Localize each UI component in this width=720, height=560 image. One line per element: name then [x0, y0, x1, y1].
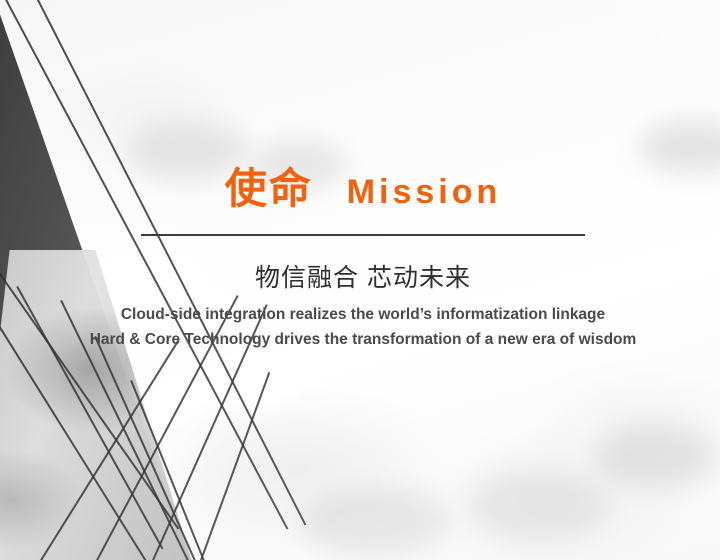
tagline-block: Cloud-side integration realizes the worl…: [60, 302, 666, 352]
tagline-line-2: Hard & Core Technology drives the transf…: [60, 327, 666, 352]
tagline-line-1: Cloud-side integration realizes the worl…: [60, 302, 666, 327]
page-title-english: Mission: [347, 175, 502, 209]
title-divider-rule: [141, 234, 585, 236]
page-title-chinese: 使命: [225, 168, 313, 210]
subtitle-chinese: 物信融合 芯动未来: [141, 258, 585, 294]
banner-content: 使命 Mission 物信融合 芯动未来 Cloud-side integrat…: [0, 0, 720, 560]
page-title: 使命 Mission: [141, 168, 585, 210]
mission-banner: 使命 Mission 物信融合 芯动未来 Cloud-side integrat…: [0, 0, 720, 560]
